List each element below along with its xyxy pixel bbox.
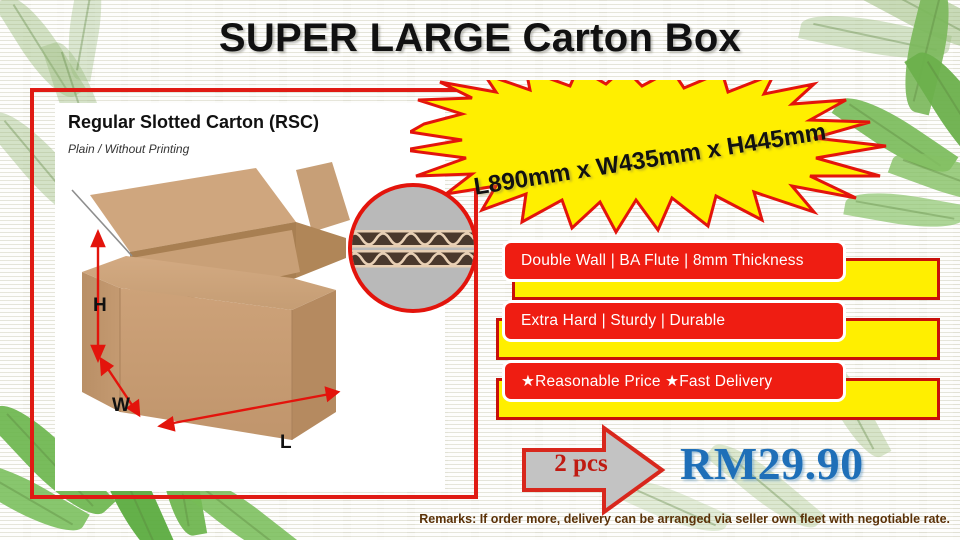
carton-box-illustration [60, 160, 400, 460]
product-type-subtitle: Plain / Without Printing [68, 142, 428, 156]
feature-label-1: Double Wall | BA Flute | 8mm Thickness [505, 252, 804, 270]
product-type-title: Regular Slotted Carton (RSC) [68, 112, 428, 133]
remarks-text: Remarks: If order more, delivery can be … [0, 512, 950, 526]
dimension-label-width: W [112, 395, 130, 417]
price-text: RM29.90 [680, 437, 930, 490]
dimension-label-length: L [280, 432, 292, 454]
feature-label-2: Extra Hard | Sturdy | Durable [505, 312, 725, 330]
dimensions-starburst [410, 80, 890, 240]
feature-label-3: ★Reasonable Price ★Fast Delivery [505, 372, 772, 391]
dimension-label-height: H [93, 295, 107, 317]
feature-bar-1: Double Wall | BA Flute | 8mm Thickness [502, 240, 846, 282]
feature-bar-3: ★Reasonable Price ★Fast Delivery [502, 360, 846, 402]
feature-bar-2: Extra Hard | Sturdy | Durable [502, 300, 846, 342]
advertisement-canvas: SUPER LARGE Carton Box Regular Slotted C… [0, 0, 960, 540]
page-title: SUPER LARGE Carton Box [0, 16, 960, 61]
quantity-label: 2 pcs [536, 450, 626, 478]
